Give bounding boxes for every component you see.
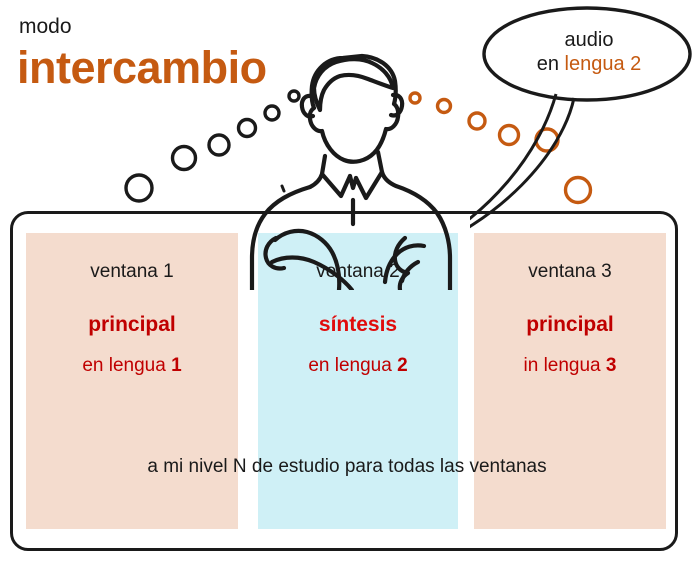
footer-note: a mi nivel N de estudio para todas las v… bbox=[13, 457, 681, 476]
panel-1-language-number: 1 bbox=[171, 355, 182, 376]
panel-1-language-prefix: en lengua bbox=[82, 355, 171, 376]
panel-3-role: principal bbox=[474, 314, 666, 335]
black-bubble-5 bbox=[173, 147, 196, 170]
panel-2-title: ventana 2 bbox=[258, 262, 458, 281]
header-kicker: modo bbox=[19, 16, 72, 37]
panel-1-role: principal bbox=[26, 314, 238, 335]
panel-3-language: in lengua 3 bbox=[474, 356, 666, 375]
speech-bubble-tail-edge-2 bbox=[470, 98, 574, 255]
black-bubble-4 bbox=[209, 135, 229, 155]
panel-2-role: síntesis bbox=[258, 314, 458, 335]
window-panel-2[interactable]: ventana 2 síntesis en lengua 2 bbox=[258, 233, 458, 529]
speech-bubble-text: audio en lengua 2 bbox=[514, 28, 664, 77]
window-panel-3[interactable]: ventana 3 principal in lengua 3 bbox=[474, 233, 666, 529]
speech-bubble-line-1: audio bbox=[514, 28, 664, 52]
speech-bubble-line-2-accent: lengua 2 bbox=[565, 53, 642, 75]
black-bubble-3 bbox=[239, 120, 256, 137]
panel-2-language: en lengua 2 bbox=[258, 356, 458, 375]
speech-bubble-line-2-prefix: en bbox=[537, 53, 565, 75]
page-title: intercambio bbox=[17, 45, 267, 90]
panel-2-language-number: 2 bbox=[397, 355, 408, 376]
panel-3-language-number: 3 bbox=[606, 355, 617, 376]
speech-bubble: audio en lengua 2 bbox=[470, 2, 695, 272]
panels-row: ventana 1 principal en lengua 1 ventana … bbox=[26, 233, 666, 529]
panel-2-language-prefix: en lengua bbox=[308, 355, 397, 376]
black-bubble-6 bbox=[126, 175, 152, 201]
speech-bubble-tail-edge-1 bbox=[470, 94, 556, 253]
panel-1-language: en lengua 1 bbox=[26, 356, 238, 375]
window-panel-1[interactable]: ventana 1 principal en lengua 1 bbox=[26, 233, 238, 529]
speech-bubble-line-2: en lengua 2 bbox=[514, 52, 664, 76]
panel-3-language-prefix: in lengua bbox=[524, 355, 606, 376]
panel-1-title: ventana 1 bbox=[26, 262, 238, 281]
header: modo intercambio bbox=[0, 0, 420, 110]
orange-bubble-2 bbox=[438, 100, 451, 113]
